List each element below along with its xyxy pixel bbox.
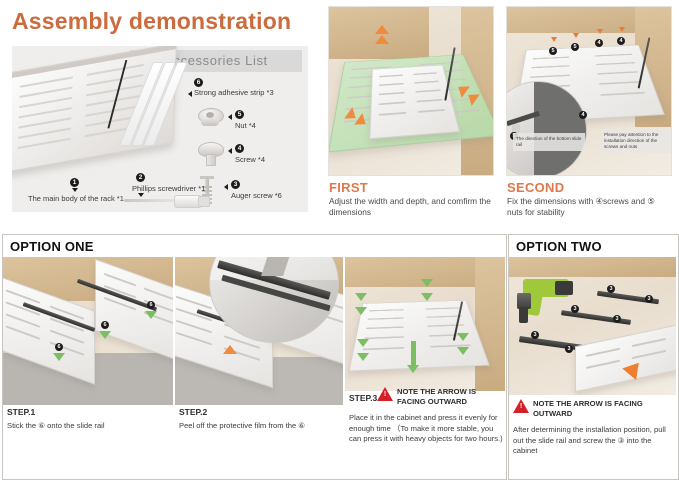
option-one-step-3: STEP.3 NOTE THE ARROW IS FACING OUTWARD … — [345, 257, 505, 475]
accessories-panel: Accessories List — [12, 46, 308, 212]
accessory-pointer-6 — [188, 91, 192, 97]
drill-illustration — [515, 279, 577, 337]
badge-strip-3: 6 — [147, 301, 155, 309]
option-two-caption: After determining the installation posit… — [513, 425, 671, 457]
page-title: Assembly demonstration — [12, 8, 291, 35]
accessory-label-2: Phillips screwdriver *1 — [132, 184, 205, 193]
callout-bottom-rail: The direction of the bottom slide rail — [513, 133, 585, 151]
step-1-photo: 6 6 6 — [3, 257, 173, 405]
peel-arrow — [223, 345, 237, 354]
step-3-label: STEP.3 — [349, 393, 377, 403]
warning-icon — [377, 387, 393, 401]
stick-arrow-3 — [145, 311, 157, 319]
bottom-row: OPTION ONE — [0, 234, 679, 478]
accessory-pointer-4 — [228, 148, 232, 154]
press-arrow-3 — [357, 339, 369, 347]
option-one-step-2: STEP.2 Peel off the protective film from… — [175, 257, 343, 475]
second-photo: 5 5 4 4 5 4 The direction of the bottom … — [506, 6, 672, 176]
step-card-first: FIRST Adjust the width and depth, and co… — [322, 0, 498, 230]
badge-rail-b1: 3 — [571, 305, 579, 313]
screwdriver-illustration — [124, 194, 210, 208]
top-row: Assembly demonstration Accessories List — [0, 0, 679, 230]
intro-block: Assembly demonstration Accessories List — [0, 0, 318, 230]
press-arrow-1 — [355, 293, 367, 301]
badge-screw-2: 5 — [571, 43, 579, 51]
accessory-pointer-5 — [228, 114, 232, 120]
accessory-label-3: Auger screw *6 — [231, 191, 282, 200]
accessory-pointer-1 — [72, 188, 78, 192]
press-arrow-6 — [421, 293, 433, 301]
accessory-label-4: Screw *4 — [235, 155, 265, 164]
option-two-photo: 3 3 3 3 3 3 — [509, 257, 676, 395]
option-one-panel: OPTION ONE — [2, 234, 507, 480]
nut-illustration — [198, 108, 224, 128]
screw-arrow-3 — [597, 29, 603, 34]
first-heading: FIRST — [329, 180, 368, 195]
badge-strip-2: 6 — [101, 321, 109, 329]
expand-arrow-up-2 — [375, 35, 389, 44]
badge-screw-1: 5 — [549, 47, 557, 55]
press-arrow-5 — [421, 279, 433, 287]
step-2-label: STEP.2 — [179, 407, 207, 417]
step-3-caption: Place it in the cabinet and press it eve… — [349, 413, 505, 445]
badge-rail-a1: 3 — [607, 285, 615, 293]
expand-arrow-up-1 — [375, 25, 389, 34]
accessory-label-5: Nut *4 — [235, 121, 256, 130]
step-3-warning-row: NOTE THE ARROW IS FACING OUTWARD — [377, 387, 503, 406]
warning-icon — [513, 399, 529, 413]
accessory-number-6: 6 — [194, 78, 203, 87]
assembly-instruction-page: Assembly demonstration Accessories List — [0, 0, 679, 478]
second-heading: SECOND — [507, 180, 564, 195]
magnifier-inset: 5 — [506, 81, 587, 176]
badge-rail-c2: 3 — [565, 345, 573, 353]
option-two-warning-row: NOTE THE ARROW IS FACING OUTWARD — [513, 399, 671, 418]
step-3-warning-text: NOTE THE ARROW IS FACING OUTWARD — [397, 387, 503, 406]
badge-screw-3: 4 — [595, 39, 603, 47]
stick-arrow-2 — [99, 331, 111, 339]
screw-arrow-2 — [573, 33, 579, 38]
accessory-number-2: 2 — [136, 173, 145, 182]
option-two-heading: OPTION TWO — [516, 239, 602, 254]
step-3-photo — [345, 257, 505, 391]
press-arrow-8 — [457, 347, 469, 355]
option-two-panel: OPTION TWO — [508, 234, 679, 480]
badge-rail-screw: 4 — [579, 111, 587, 119]
badge-screw-4: 4 — [617, 37, 625, 45]
badge-rail-b2: 3 — [613, 315, 621, 323]
option-one-step-1: 6 6 6 STEP.1 Stick the ⑥ onto the slide … — [3, 257, 173, 475]
first-text: Adjust the width and depth, and comfirm … — [329, 196, 491, 218]
step-2-photo — [175, 257, 343, 405]
accessory-number-3: 3 — [231, 180, 240, 189]
option-two-warning-text: NOTE THE ARROW IS FACING OUTWARD — [533, 399, 671, 418]
accessory-label-1: The main body of the rack *1 — [28, 194, 124, 203]
badge-rail-c1: 3 — [531, 331, 539, 339]
screw-arrow-4 — [619, 27, 625, 32]
press-arrow-2 — [355, 307, 367, 315]
first-photo — [328, 6, 494, 176]
accessory-number-1: 1 — [70, 178, 79, 187]
stick-arrow-1 — [53, 353, 65, 361]
step-1-label: STEP.1 — [7, 407, 35, 417]
press-arrow-7 — [457, 333, 469, 341]
step-2-caption: Peel off the protective film from the ⑥ — [179, 421, 341, 432]
callout-screw-direction: Please pay attention to the installation… — [601, 129, 671, 153]
badge-rail-a2: 3 — [645, 295, 653, 303]
press-arrow-center — [407, 365, 419, 373]
screw-illustration — [198, 142, 224, 166]
accessory-pointer-3 — [224, 184, 228, 190]
option-one-heading: OPTION ONE — [10, 239, 94, 254]
badge-strip-1: 6 — [55, 343, 63, 351]
step-card-second: 5 5 4 4 5 4 The direction of the bottom … — [500, 0, 676, 230]
option-two-step: 3 3 3 3 3 3 — [509, 257, 676, 475]
accessory-number-5: 5 — [235, 110, 244, 119]
press-arrow-4 — [357, 353, 369, 361]
accessory-number-4: 4 — [235, 144, 244, 153]
second-text: Fix the dimensions with ④screws and ⑤ nu… — [507, 196, 669, 218]
accessory-label-6: Strong adhesive strip *3 — [194, 88, 274, 97]
step-1-caption: Stick the ⑥ onto the slide rail — [7, 421, 167, 432]
screw-arrow-1 — [551, 37, 557, 42]
